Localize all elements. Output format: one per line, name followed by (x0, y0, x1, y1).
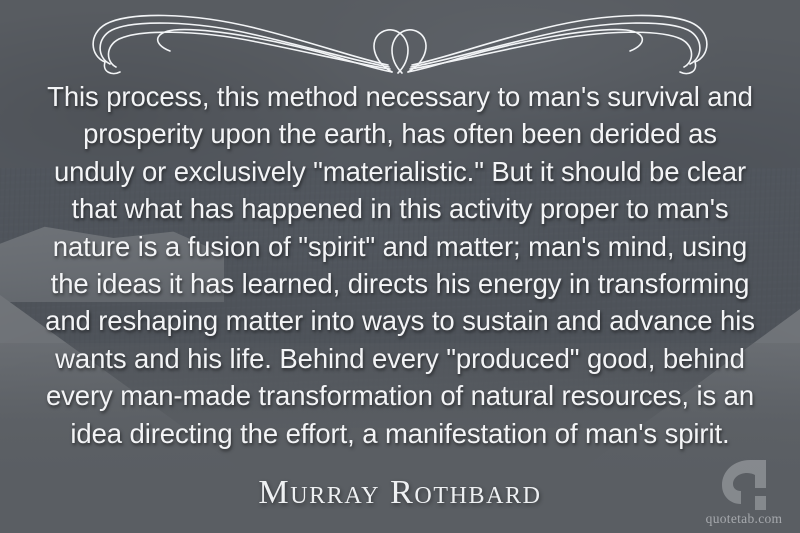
quote-card: This process, this method necessary to m… (0, 0, 800, 533)
watermark[interactable]: quotetab.com (696, 458, 792, 527)
quote-author: Murray Rothbard (258, 474, 541, 512)
quote-text: This process, this method necessary to m… (44, 78, 756, 452)
flourish-ornament-icon (70, 6, 730, 76)
quotetab-q-logo-icon (716, 458, 772, 510)
card-content: This process, this method necessary to m… (0, 0, 800, 533)
watermark-site-label: quotetab.com (706, 511, 783, 527)
